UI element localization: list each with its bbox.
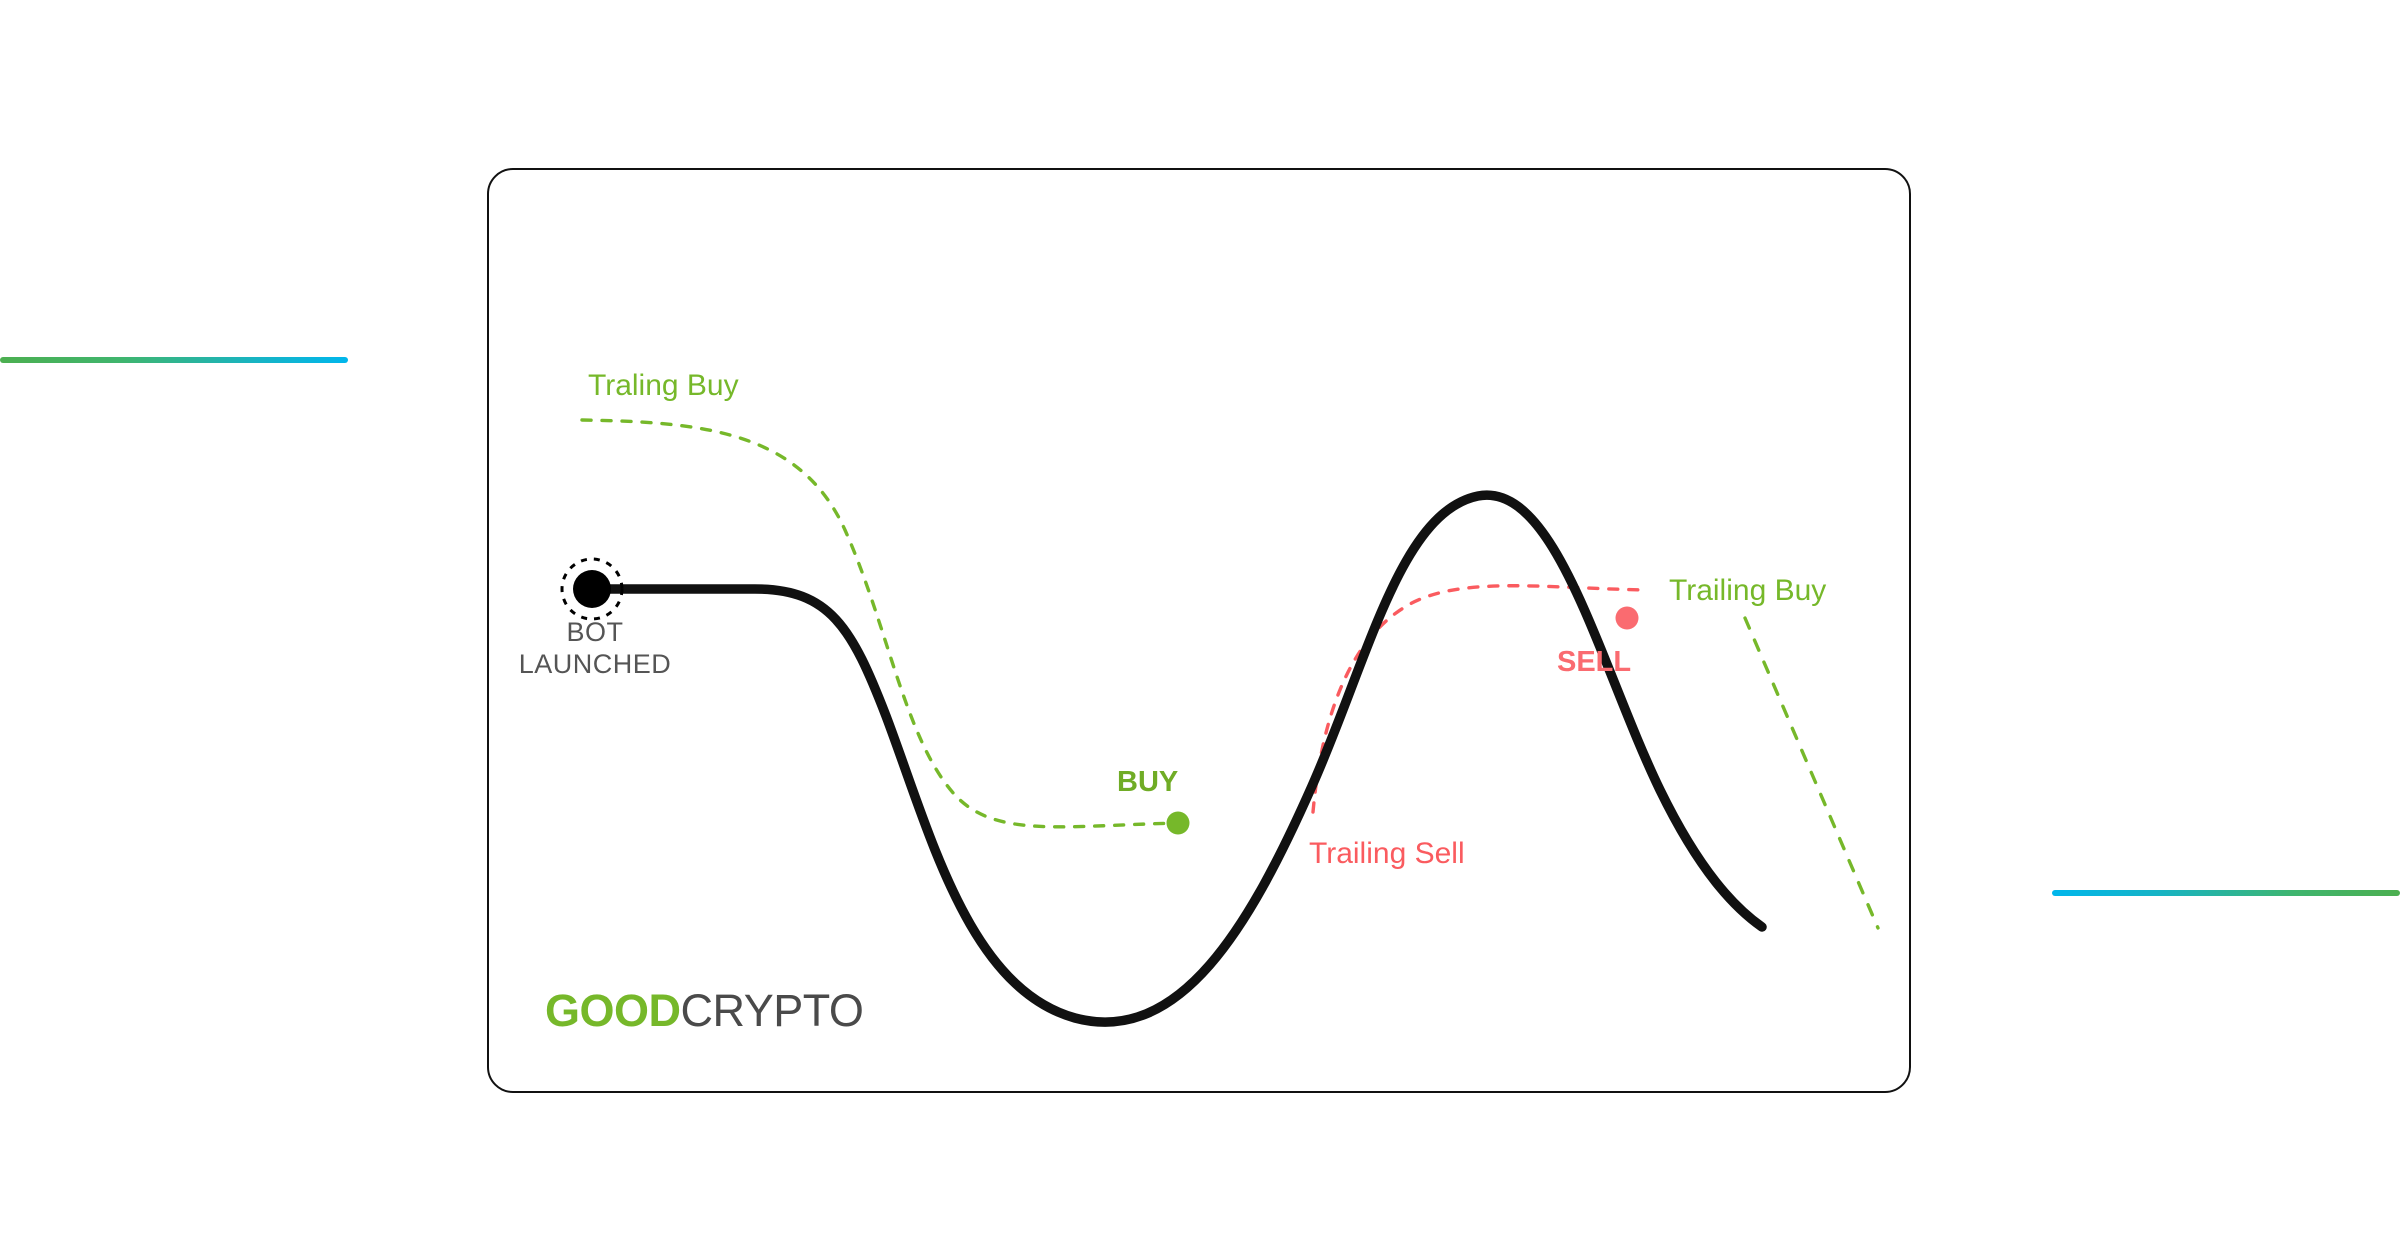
trailing-buy-left-label: Traling Buy xyxy=(588,368,739,403)
bot-launched-label-line1: BOT xyxy=(510,617,680,649)
sell-label: SELL xyxy=(1557,645,1631,679)
trailing-buy-right-label: Trailing Buy xyxy=(1669,573,1826,608)
price-curve xyxy=(600,495,1762,1022)
goodcrypto-logo: GOODCRYPTO xyxy=(545,985,863,1037)
trailing-bot-chart xyxy=(0,0,2400,1260)
bot-launched-dot-icon xyxy=(573,570,611,608)
buy-label: BUY xyxy=(1117,765,1178,799)
bot-launched-label: BOT LAUNCHED xyxy=(510,617,680,681)
trailing-buy-right-path xyxy=(1745,618,1878,928)
bot-launched-label-line2: LAUNCHED xyxy=(510,649,680,681)
trailing-sell-path xyxy=(1313,586,1645,812)
buy-marker-icon[interactable] xyxy=(1167,812,1190,835)
trailing-sell-label: Trailing Sell xyxy=(1309,836,1465,871)
logo-good-text: GOOD xyxy=(545,985,681,1036)
logo-crypto-text: CRYPTO xyxy=(681,985,864,1036)
diagram-canvas: Traling Buy Trailing Buy Trailing Sell B… xyxy=(0,0,2400,1260)
sell-marker-icon[interactable] xyxy=(1616,607,1639,630)
